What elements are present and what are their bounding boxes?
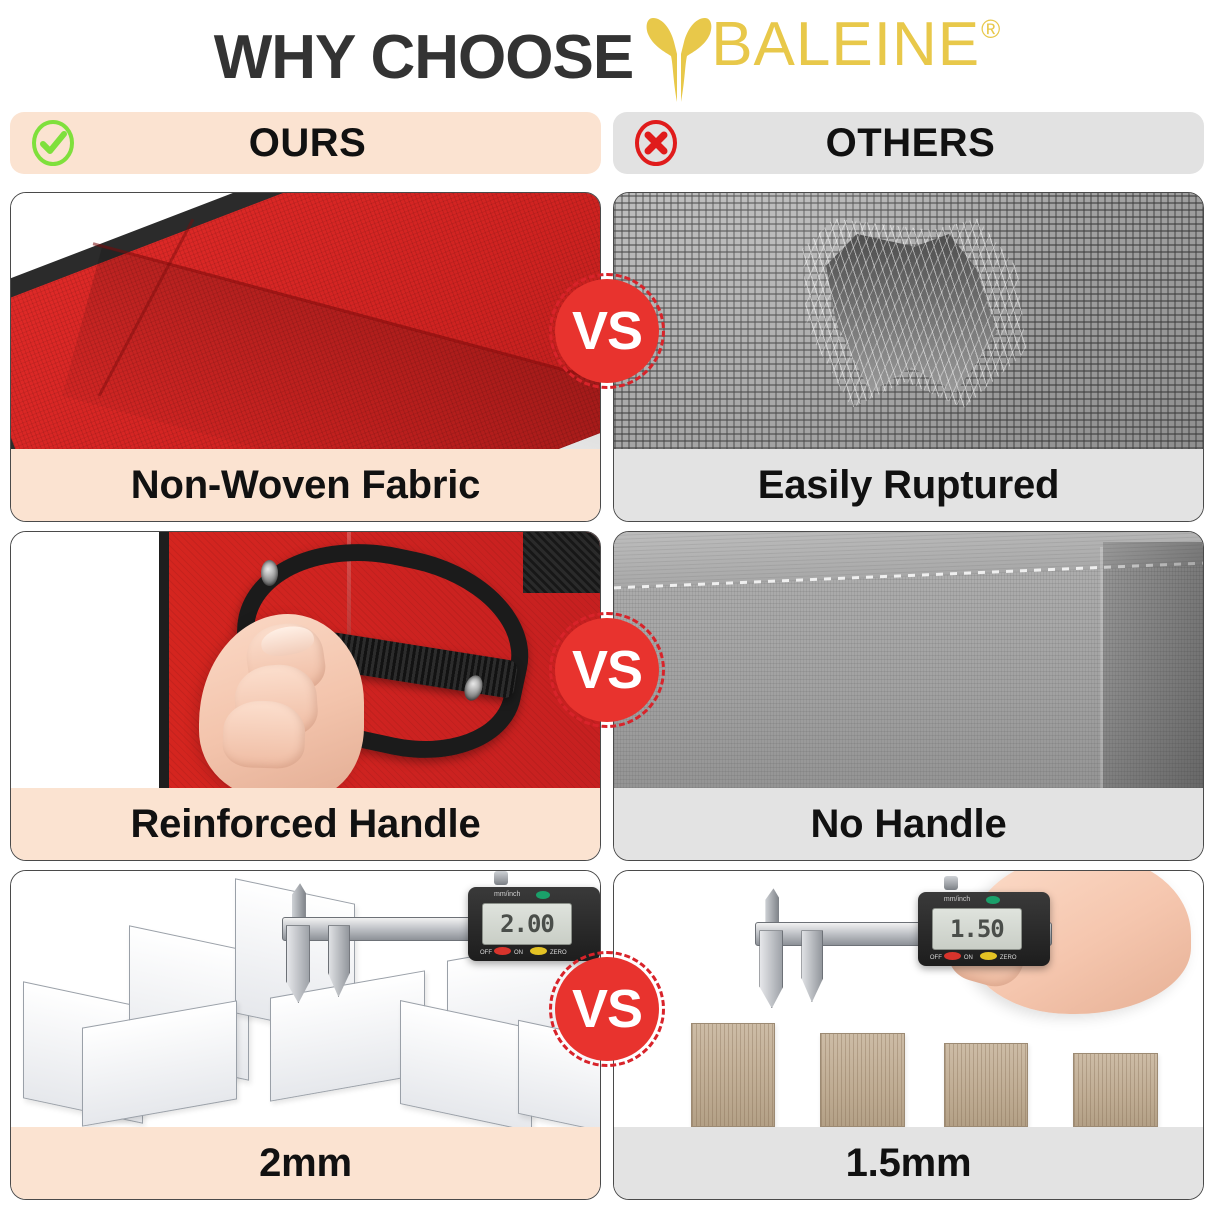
brand-logo: BALEINE ® <box>643 14 1000 102</box>
caliper-display: 1.50 <box>932 908 1022 950</box>
caliper-reading: 2.00 <box>500 910 554 938</box>
column-header-ours: OURS <box>10 112 601 174</box>
comparison-cell-others: mm/inch 1.50 OFF ON ZERO <box>613 870 1204 1200</box>
red-fabric-box-corner-photo <box>11 193 600 449</box>
page-title-bar: WHY CHOOSE BALEINE ® <box>0 0 1214 112</box>
vs-label: VS <box>572 982 642 1036</box>
caliper-zero-button[interactable] <box>530 947 547 955</box>
cell-caption: Reinforced Handle <box>11 788 600 860</box>
comparison-cell-ours: mm/inch 2.00 OFF ON ZERO <box>10 870 601 1200</box>
vs-label: VS <box>572 643 642 697</box>
column-header-others: OTHERS <box>613 112 1204 174</box>
vs-badge: VS <box>555 279 659 383</box>
column-header-others-label: OTHERS <box>679 123 1142 163</box>
vs-badge: VS <box>555 957 659 1061</box>
caliper-led-icon <box>536 891 550 899</box>
column-header-ours-label: OURS <box>76 123 539 163</box>
comparison-row: mm/inch 2.00 OFF ON ZERO <box>10 870 1204 1200</box>
caliper-off-label: OFF <box>930 955 942 961</box>
caliper-display: 2.00 <box>482 903 572 945</box>
cell-caption: 2mm <box>11 1127 600 1199</box>
caliper-reading: 1.50 <box>950 915 1004 943</box>
vs-label: VS <box>572 304 642 358</box>
grey-linen-box-no-handle-photo <box>614 532 1203 788</box>
caliper-off-button[interactable] <box>944 952 961 960</box>
caliper-off-label: OFF <box>480 950 492 956</box>
comparison-grid: Non-Woven Fabric Easily Ruptured VS <box>0 184 1214 1219</box>
page-title: WHY CHOOSE <box>214 27 633 89</box>
x-circle-icon <box>633 120 679 166</box>
caliper-unit-label: mm/inch <box>494 891 520 898</box>
hand-holding-black-webbing-handle-photo <box>11 532 600 788</box>
vs-badge: VS <box>555 618 659 722</box>
caliper-unit-label: mm/inch <box>944 896 970 903</box>
comparison-cell-ours: Reinforced Handle <box>10 531 601 861</box>
caliper-zero-label: ZERO <box>550 950 567 956</box>
white-divider-panels-with-caliper-photo: mm/inch 2.00 OFF ON ZERO <box>11 871 600 1127</box>
cell-caption: No Handle <box>614 788 1203 860</box>
cell-caption: 1.5mm <box>614 1127 1203 1199</box>
brand-name: BALEINE <box>711 14 980 76</box>
cell-caption: Non-Woven Fabric <box>11 449 600 521</box>
whale-tail-icon <box>643 16 715 102</box>
comparison-row: Non-Woven Fabric Easily Ruptured VS <box>10 192 1204 522</box>
caliper-on-label: ON <box>964 955 973 961</box>
caliper-zero-label: ZERO <box>1000 955 1017 961</box>
check-circle-icon <box>30 120 76 166</box>
torn-grey-nonwoven-fabric-photo <box>614 193 1203 449</box>
registered-trademark-icon: ® <box>981 16 1000 42</box>
comparison-cell-others: No Handle <box>613 531 1204 861</box>
caliper-on-label: ON <box>514 950 523 956</box>
comparison-cell-ours: Non-Woven Fabric <box>10 192 601 522</box>
caliper-zero-button[interactable] <box>980 952 997 960</box>
caliper-off-button[interactable] <box>494 947 511 955</box>
digital-caliper: mm/inch 1.50 OFF ON ZERO <box>755 886 1050 1045</box>
cell-caption: Easily Ruptured <box>614 449 1203 521</box>
column-headers: OURS OTHERS <box>0 112 1214 184</box>
comparison-cell-others: Easily Ruptured <box>613 192 1204 522</box>
caliper-led-icon <box>986 896 1000 904</box>
comparison-row: Reinforced Handle No Handle VS <box>10 531 1204 861</box>
brown-cardboard-strips-with-caliper-photo: mm/inch 1.50 OFF ON ZERO <box>614 871 1203 1127</box>
